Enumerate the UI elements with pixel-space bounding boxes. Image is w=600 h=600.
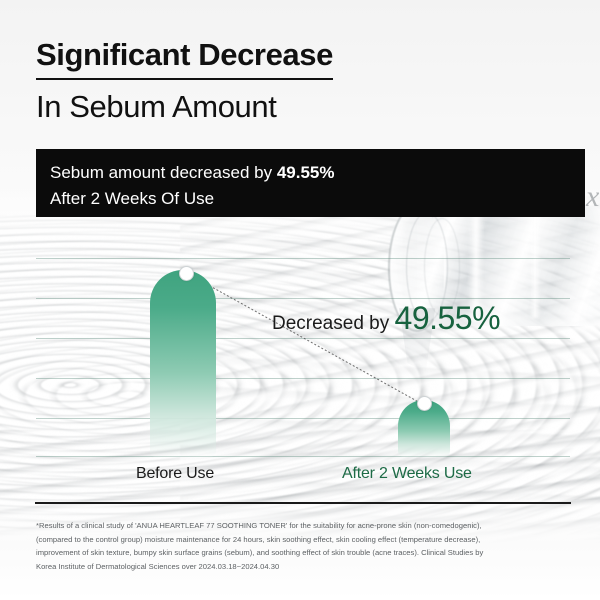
gridline <box>36 378 570 379</box>
sebum-bar-chart <box>36 250 570 465</box>
page-title-line-2: In Sebum Amount <box>36 86 333 128</box>
footnote-line-3: improvement of skin texture, bumpy skin … <box>36 546 568 560</box>
banner-line-2: After 2 Weeks Of Use <box>50 186 585 212</box>
callout-prefix: Decreased by <box>272 313 395 334</box>
banner-line-1-value: 49.55% <box>277 163 335 182</box>
axis-label-before-use: Before Use <box>136 465 214 483</box>
callout-value: 49.55% <box>395 300 501 336</box>
footnote-line-1: *Results of a clinical study of 'ANUA HE… <box>36 519 568 533</box>
decrease-callout: Decreased by 49.55% <box>272 300 500 337</box>
gridline <box>36 456 570 457</box>
gridline <box>36 338 570 339</box>
gridline <box>36 298 570 299</box>
promo-infographic: x Significant Decrease In Sebum Amount S… <box>0 0 600 600</box>
data-point-dot-after <box>417 396 432 411</box>
connector-line <box>36 250 570 465</box>
gridline <box>36 258 570 259</box>
footnote-line-4: Korea Institute of Dermatological Scienc… <box>36 560 568 574</box>
banner-line-1: Sebum amount decreased by 49.55% <box>50 160 585 186</box>
page-title: Significant Decrease In Sebum Amount <box>36 34 333 127</box>
axis-label-after-2-weeks: After 2 Weeks Use <box>342 465 472 483</box>
gridline <box>36 418 570 419</box>
page-title-line-1: Significant Decrease <box>36 34 333 80</box>
footnote: *Results of a clinical study of 'ANUA HE… <box>36 519 568 573</box>
banner-line-1-prefix: Sebum amount decreased by <box>50 163 277 182</box>
script-flourish-icon: x <box>586 182 599 212</box>
footnote-line-2: (compared to the control group) moisture… <box>36 533 568 547</box>
bar-before-use <box>150 270 216 457</box>
data-point-dot-before <box>179 266 194 281</box>
highlight-banner: Sebum amount decreased by 49.55% After 2… <box>36 149 585 217</box>
footnote-divider <box>35 502 571 504</box>
